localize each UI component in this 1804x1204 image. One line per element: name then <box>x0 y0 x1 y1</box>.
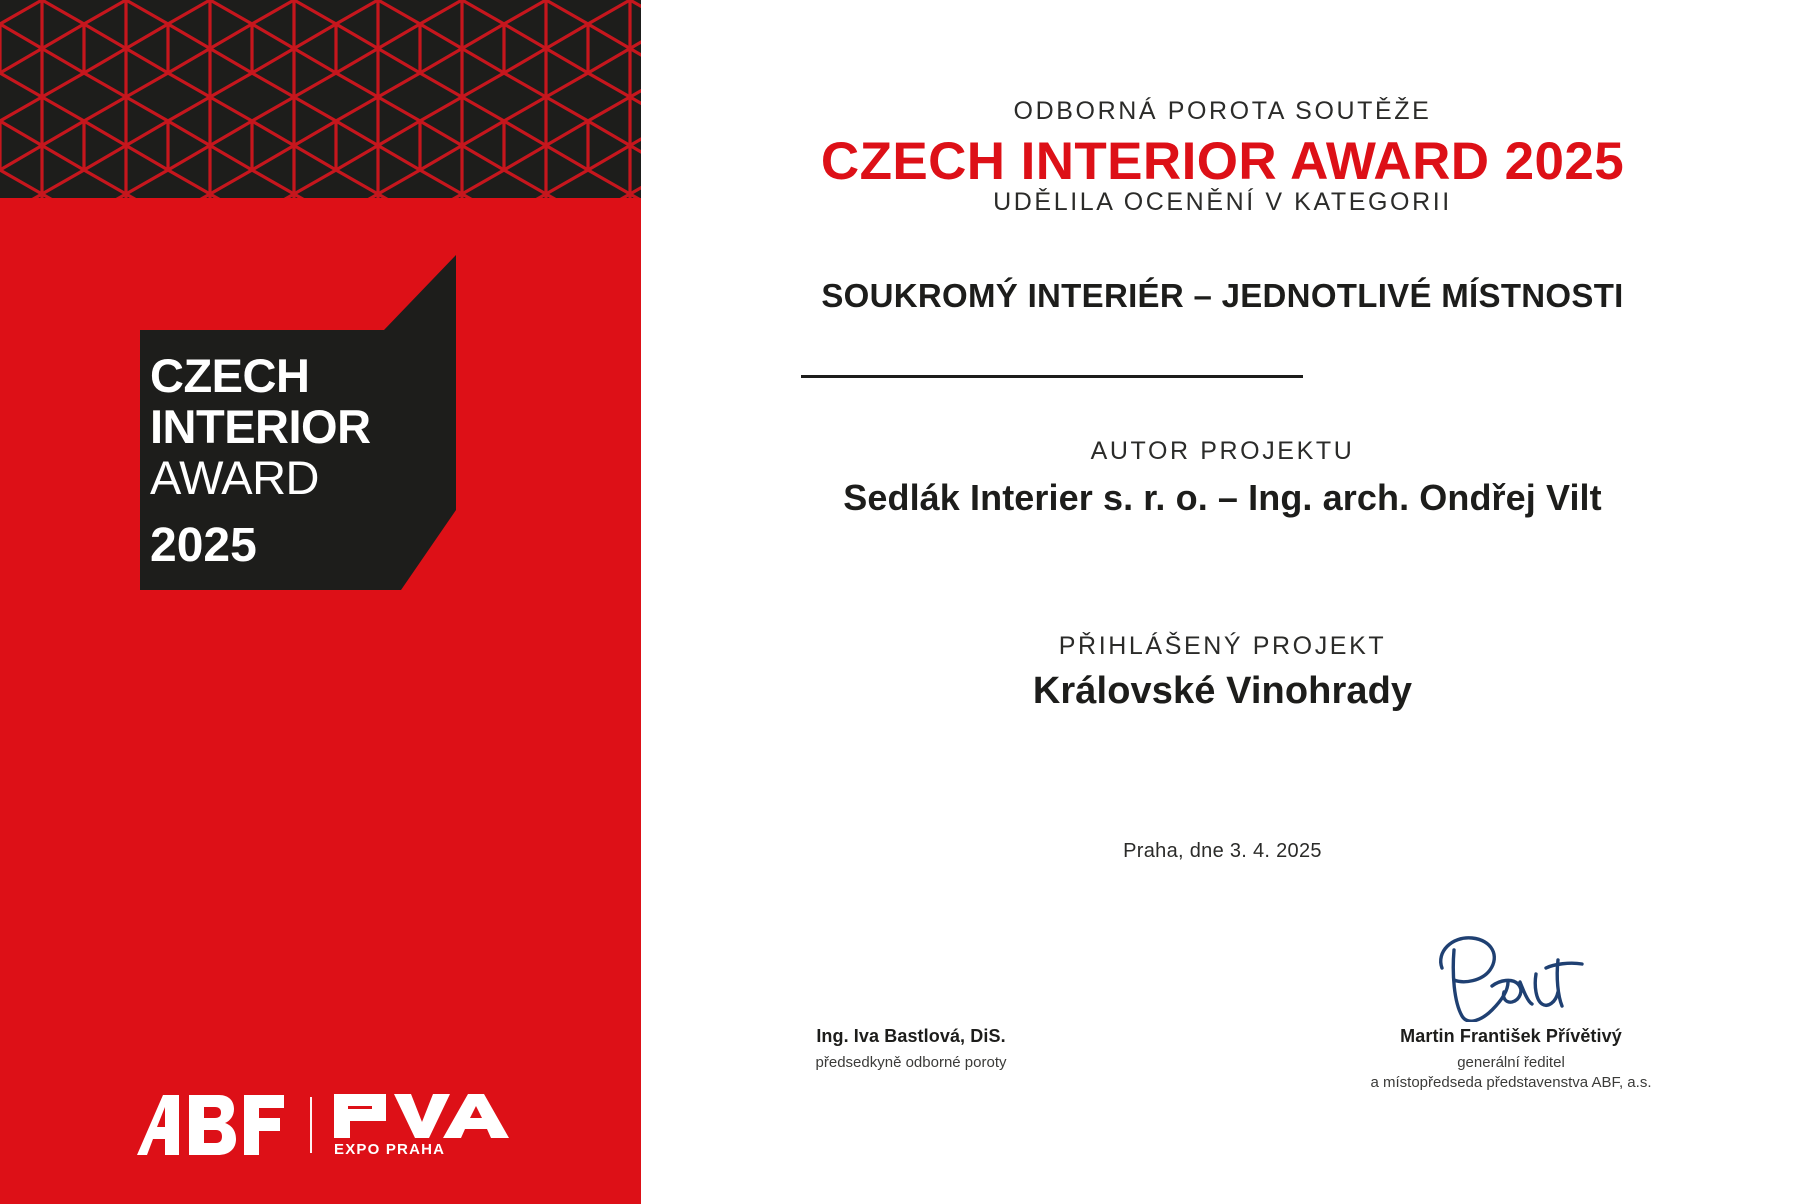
place-and-date: Praha, dne 3. 4. 2025 <box>641 840 1804 863</box>
hexagon-cube-lattice-pattern <box>0 0 641 198</box>
svg-text:EXPO PRAHA: EXPO PRAHA <box>334 1141 445 1156</box>
signatory-role-line2: a místopředseda představenstva ABF, a.s. <box>1241 1073 1781 1093</box>
handwritten-signature-icon <box>1241 930 1781 1020</box>
logo-line-czech: CZECH <box>150 352 450 399</box>
certificate-page: CZECH INTERIOR AWARD 2025 <box>0 0 1804 1204</box>
section-divider <box>801 375 1303 378</box>
certificate-content: ODBORNÁ POROTA SOUTĚŽE CZECH INTERIOR AW… <box>641 0 1804 1204</box>
author-name: Sedlák Interier s. r. o. – Ing. arch. On… <box>641 477 1804 519</box>
signatory-role: generální ředitel a místopředseda předst… <box>1241 1053 1781 1094</box>
partner-logos: EXPO PRAHA <box>0 1080 641 1170</box>
signature-block-ceo: Martin František Přívětivý generální řed… <box>1241 930 1781 1094</box>
author-label: AUTOR PROJEKTU <box>641 437 1804 466</box>
project-name: Královské Vinohrady <box>641 670 1804 713</box>
awarded-line: UDĚLILA OCENĚNÍ V KATEGORII <box>641 188 1804 217</box>
logo-line-interior: INTERIOR <box>150 403 450 450</box>
left-decorative-panel: CZECH INTERIOR AWARD 2025 <box>0 0 641 1204</box>
jury-line: ODBORNÁ POROTA SOUTĚŽE <box>641 97 1804 126</box>
signatory-name: Ing. Iva Bastlová, DiS. <box>661 1026 1161 1047</box>
logo-year: 2025 <box>150 518 257 573</box>
logo-wordmark: CZECH INTERIOR AWARD <box>150 352 450 501</box>
award-title: CZECH INTERIOR AWARD 2025 <box>641 131 1804 192</box>
signature-block-jury-chair: Ing. Iva Bastlová, DiS. předsedkyně odbo… <box>661 930 1161 1073</box>
logo-line-award: AWARD <box>150 454 450 501</box>
signature-placeholder-left <box>661 930 1161 1020</box>
logo-divider <box>310 1097 312 1153</box>
signatory-name: Martin František Přívětivý <box>1241 1026 1781 1047</box>
abf-logo <box>133 1095 288 1155</box>
pva-logo: EXPO PRAHA <box>334 1094 509 1156</box>
project-label: PŘIHLÁŠENÝ PROJEKT <box>641 632 1804 661</box>
award-category: SOUKROMÝ INTERIÉR – JEDNOTLIVÉ MÍSTNOSTI <box>641 277 1804 315</box>
signatory-role: předsedkyně odborné poroty <box>661 1053 1161 1073</box>
signatory-role-line1: generální ředitel <box>1241 1053 1781 1073</box>
